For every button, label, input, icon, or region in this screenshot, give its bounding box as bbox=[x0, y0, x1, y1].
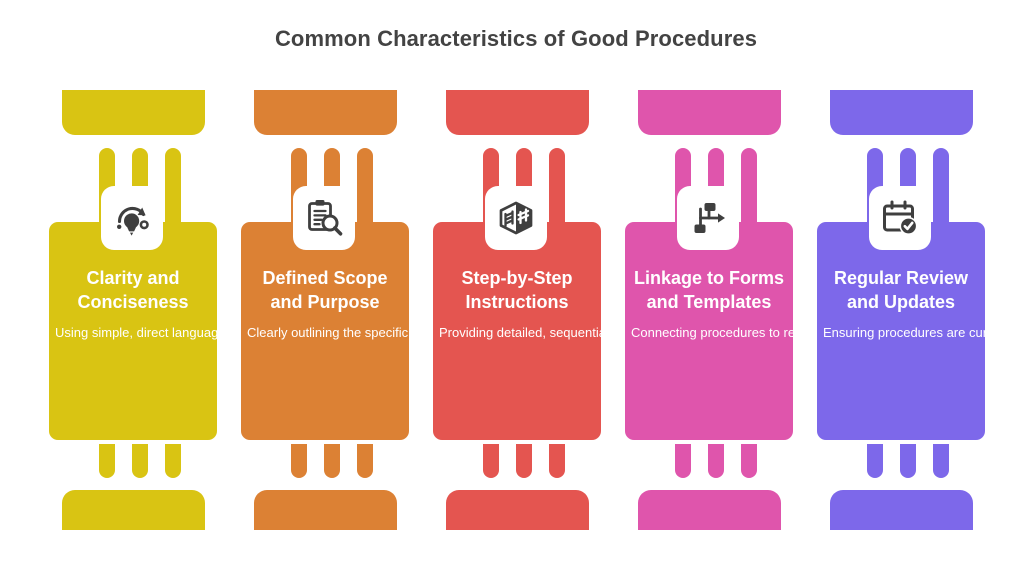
card-title: Step-by-Step Instructions bbox=[439, 266, 595, 314]
column-lower-prongs bbox=[428, 444, 620, 478]
prong bbox=[324, 444, 340, 478]
prong bbox=[357, 148, 373, 222]
prong bbox=[516, 444, 532, 478]
prong bbox=[549, 444, 565, 478]
prong bbox=[867, 444, 883, 478]
icon-tile bbox=[293, 186, 355, 250]
icon-tile bbox=[677, 186, 739, 250]
prong bbox=[291, 444, 307, 478]
card-title: Clarity and Conciseness bbox=[55, 266, 211, 314]
prong bbox=[132, 444, 148, 478]
prong bbox=[549, 148, 565, 222]
characteristic-column-linkage-to-forms-and-templates[interactable]: Linkage to Forms and Templates Connectin… bbox=[620, 90, 812, 526]
characteristics-columns: Clarity and Conciseness Using simple, di… bbox=[44, 90, 1004, 526]
card-title: Regular Review and Updates bbox=[823, 266, 979, 314]
column-top-bar bbox=[830, 90, 973, 135]
column-bottom-bar bbox=[446, 490, 589, 530]
characteristic-card[interactable]: Regular Review and Updates Ensuring proc… bbox=[817, 222, 985, 440]
characteristic-column-regular-review-and-updates[interactable]: Regular Review and Updates Ensuring proc… bbox=[812, 90, 1004, 526]
column-lower-prongs bbox=[236, 444, 428, 478]
characteristic-column-defined-scope-and-purpose[interactable]: Defined Scope and Purpose Clearly outlin… bbox=[236, 90, 428, 526]
calendar-check-icon bbox=[880, 198, 920, 238]
column-top-bar bbox=[638, 90, 781, 135]
characteristic-column-clarity-and-conciseness[interactable]: Clarity and Conciseness Using simple, di… bbox=[44, 90, 236, 526]
column-bottom-bar bbox=[62, 490, 205, 530]
column-lower-prongs bbox=[44, 444, 236, 478]
characteristic-column-step-by-step-instructions[interactable]: Step-by-Step Instructions Providing deta… bbox=[428, 90, 620, 526]
column-bottom-bar bbox=[254, 490, 397, 530]
column-lower-prongs bbox=[620, 444, 812, 478]
prong bbox=[357, 444, 373, 478]
card-description: Connecting procedures to relevant docume… bbox=[631, 323, 787, 342]
prong bbox=[675, 444, 691, 478]
characteristic-card[interactable]: Linkage to Forms and Templates Connectin… bbox=[625, 222, 793, 440]
icon-tile bbox=[869, 186, 931, 250]
card-description: Ensuring procedures are current and accu… bbox=[823, 323, 979, 342]
column-bottom-bar bbox=[638, 490, 781, 530]
card-description: Providing detailed, sequential steps for… bbox=[439, 323, 595, 342]
prong bbox=[900, 444, 916, 478]
lightbulb-refresh-icon bbox=[112, 198, 152, 238]
clipboard-search-icon bbox=[304, 198, 344, 238]
card-description: Using simple, direct language that is ea… bbox=[55, 323, 211, 342]
prong bbox=[99, 444, 115, 478]
characteristic-card[interactable]: Clarity and Conciseness Using simple, di… bbox=[49, 222, 217, 440]
steps-box-icon bbox=[496, 198, 536, 238]
column-lower-prongs bbox=[812, 444, 1004, 478]
page-title: Common Characteristics of Good Procedure… bbox=[0, 24, 1032, 54]
prong bbox=[741, 148, 757, 222]
prong bbox=[933, 444, 949, 478]
characteristic-card[interactable]: Defined Scope and Purpose Clearly outlin… bbox=[241, 222, 409, 440]
icon-tile bbox=[101, 186, 163, 250]
prong bbox=[933, 148, 949, 222]
column-bottom-bar bbox=[830, 490, 973, 530]
prong bbox=[165, 444, 181, 478]
column-top-bar bbox=[254, 90, 397, 135]
prong bbox=[165, 148, 181, 222]
card-description: Clearly outlining the specific QMS eleme… bbox=[247, 323, 403, 342]
icon-tile bbox=[485, 186, 547, 250]
column-top-bar bbox=[62, 90, 205, 135]
card-title: Linkage to Forms and Templates bbox=[631, 266, 787, 314]
prong bbox=[483, 444, 499, 478]
characteristic-card[interactable]: Step-by-Step Instructions Providing deta… bbox=[433, 222, 601, 440]
prong bbox=[708, 444, 724, 478]
column-top-bar bbox=[446, 90, 589, 135]
flowchart-nodes-icon bbox=[688, 198, 728, 238]
infographic-canvas: Common Characteristics of Good Procedure… bbox=[0, 0, 1032, 574]
prong bbox=[741, 444, 757, 478]
card-title: Defined Scope and Purpose bbox=[247, 266, 403, 314]
